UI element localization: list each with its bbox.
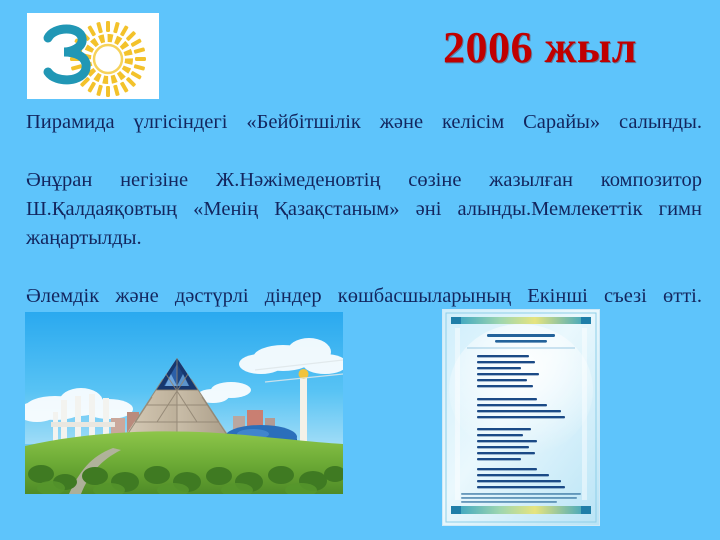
slide-canvas: 2006 жыл Пирамида үлгісіндегі «Бейбітшіл… <box>0 0 720 540</box>
logo-container <box>28 14 158 98</box>
paragraph-2: Әнұран негізіне Ж.Нәжімеденовтің сөзіне … <box>26 166 702 282</box>
anthem-poster-artwork <box>443 310 599 525</box>
kazakhstan-30-years-logo-icon <box>28 14 158 98</box>
kazakhstan-anthem-poster <box>443 310 599 525</box>
paragraph-1: Пирамида үлгісіндегі «Бейбітшілік және к… <box>26 108 702 166</box>
body-text-block: Пирамида үлгісіндегі «Бейбітшілік және к… <box>26 108 702 340</box>
pyramid-photo-artwork <box>25 312 343 494</box>
page-title: 2006 жыл <box>380 22 700 74</box>
palace-of-peace-and-reconciliation-photo <box>25 312 343 494</box>
